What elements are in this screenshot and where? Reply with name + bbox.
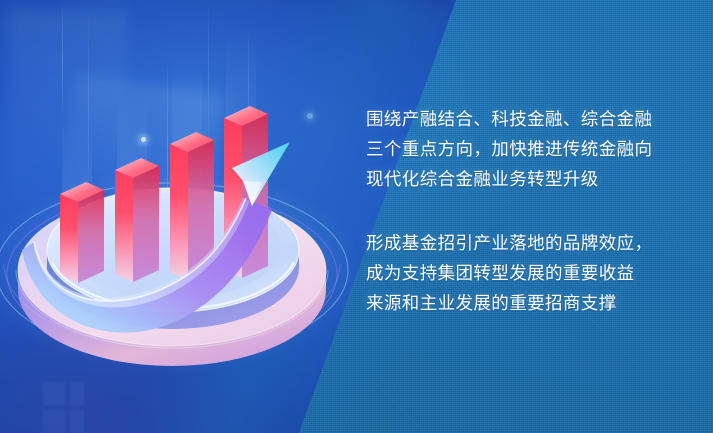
- bar-2-side: [133, 166, 159, 282]
- bar-2: [115, 158, 159, 282]
- bar-1-side: [78, 190, 104, 283]
- paragraph-one-line-3: 现代化综合金融业务转型升级: [366, 169, 599, 189]
- bar-2-front: [115, 170, 133, 282]
- paragraph-two-line-3: 来源和主业发展的重要招商支撑: [366, 293, 617, 313]
- promotional-banner: 围绕产融结合、科技金融、综合金融 三个重点方向，加快推进传统金融向 现代化综合金…: [0, 0, 713, 433]
- bar-1-front: [60, 194, 78, 283]
- growth-chart-illustration: [0, 74, 345, 374]
- bar-3-front: [170, 144, 188, 280]
- watermark-square-2: [70, 382, 84, 406]
- paragraph-two-line-1: 形成基金招引产业落地的品牌效应，: [366, 233, 652, 253]
- watermark-square-3: [43, 410, 65, 433]
- paragraph-two: 形成基金招引产业落地的品牌效应， 成为支持集团转型发展的重要收益 来源和主业发展…: [366, 228, 696, 318]
- watermark-square-4: [70, 410, 84, 433]
- banner-copy: 围绕产融结合、科技金融、综合金融 三个重点方向，加快推进传统金融向 现代化综合金…: [366, 104, 696, 318]
- bar-1: [60, 182, 104, 283]
- paragraph-one-line-2: 三个重点方向，加快推进传统金融向: [366, 139, 652, 159]
- paragraph-one-line-1: 围绕产融结合、科技金融、综合金融: [366, 109, 652, 129]
- paragraph-one: 围绕产融结合、科技金融、综合金融 三个重点方向，加快推进传统金融向 现代化综合金…: [366, 104, 696, 194]
- watermark-square-1: [43, 382, 65, 406]
- paragraph-two-line-2: 成为支持集团转型发展的重要收益: [366, 263, 635, 283]
